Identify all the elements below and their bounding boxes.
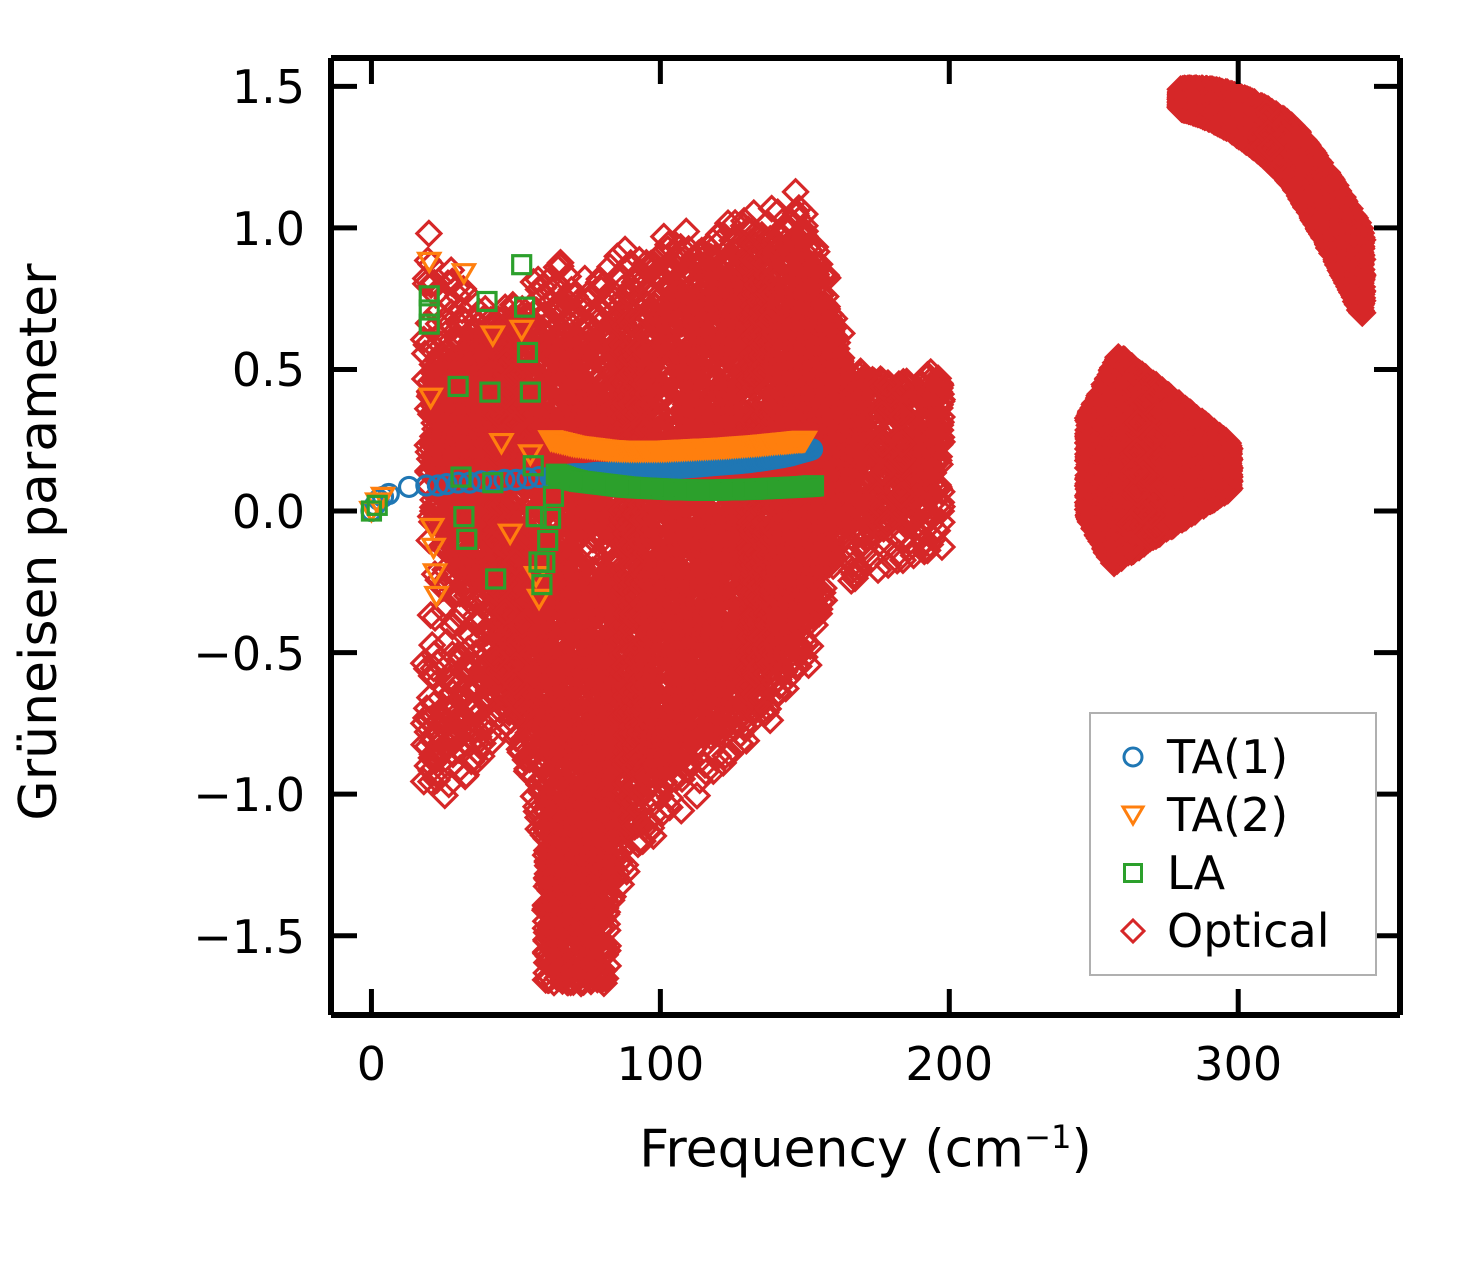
legend-label-ta2: TA(2) — [1161, 792, 1288, 838]
y-axis-title: Grüneisen parameter — [9, 62, 69, 1022]
legend-label-optical: Optical — [1161, 908, 1329, 954]
legend-item-la[interactable]: LA — [1105, 844, 1357, 902]
legend-item-ta1[interactable]: TA(1) — [1105, 728, 1357, 786]
x-axis-title: Frequency (cm−1) — [331, 1118, 1400, 1179]
circle-marker-icon — [1105, 740, 1161, 774]
x-axis-title-exponent: −1 — [1024, 1118, 1072, 1156]
legend-box: TA(1) TA(2) LA Optical — [1089, 712, 1377, 976]
diamond-marker-icon — [1105, 914, 1161, 948]
y-tick-label: 1.0 — [120, 202, 305, 256]
x-axis-title-tail: ) — [1071, 1119, 1091, 1179]
y-tick-label: −1.0 — [120, 768, 305, 822]
x-tick-label: 100 — [570, 1037, 750, 1091]
x-tick-label: 0 — [281, 1037, 461, 1091]
legend-item-ta2[interactable]: TA(2) — [1105, 786, 1357, 844]
legend-label-ta1: TA(1) — [1161, 734, 1288, 780]
triangle-down-marker-icon — [1105, 798, 1161, 832]
y-tick-label: −1.5 — [120, 910, 305, 964]
y-tick-label: −0.5 — [120, 627, 305, 681]
legend-item-optical[interactable]: Optical — [1105, 902, 1357, 960]
y-tick-label: 1.5 — [120, 60, 305, 114]
x-tick-label: 200 — [859, 1037, 1039, 1091]
square-marker-icon — [1105, 856, 1161, 890]
legend-label-la: LA — [1161, 850, 1225, 896]
figure-canvas: 1.51.00.50.0−0.5−1.0−1.5 0100200300 Freq… — [0, 0, 1462, 1264]
y-tick-label: 0.0 — [120, 485, 305, 539]
y-tick-label: 0.5 — [120, 343, 305, 397]
x-axis-title-base: Frequency (cm — [639, 1119, 1024, 1179]
x-tick-label: 300 — [1148, 1037, 1328, 1091]
